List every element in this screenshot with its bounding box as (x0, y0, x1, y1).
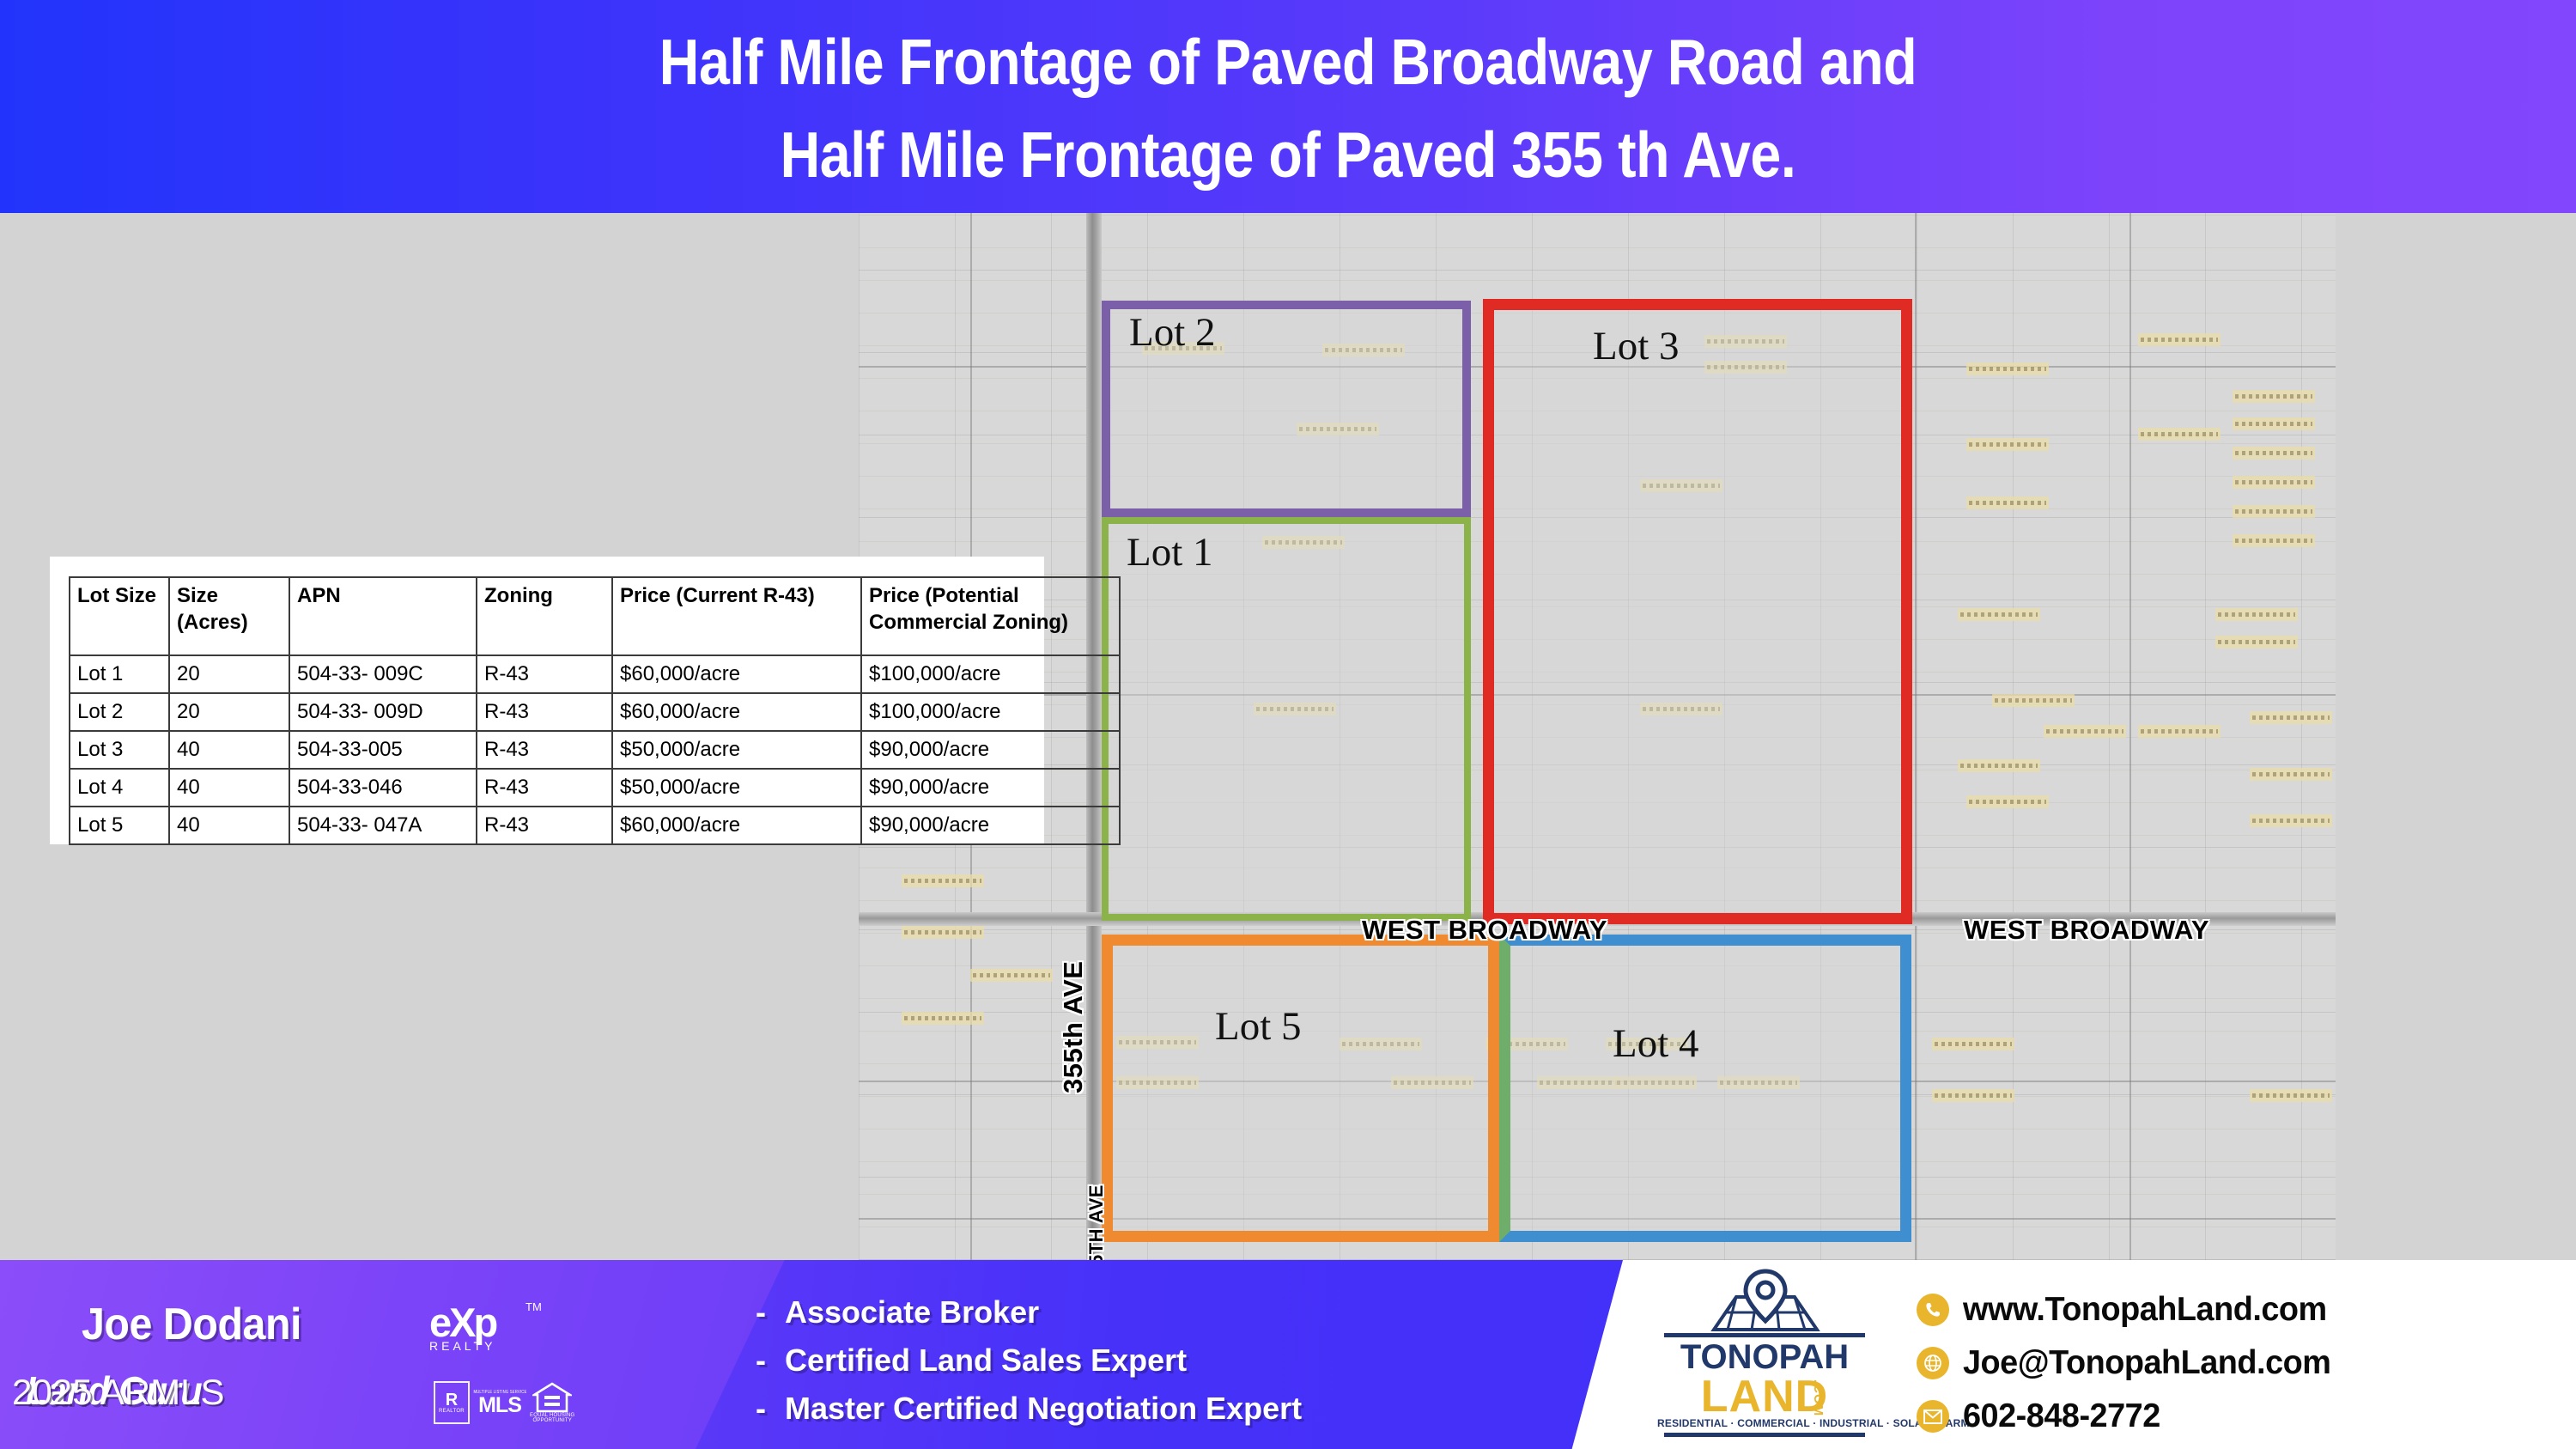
map-apn-tag (2250, 814, 2332, 827)
column-header-price-current: Price (Current R-43) (612, 577, 861, 655)
table-row: Lot 4 40 504-33-046 R-43 $50,000/acre $9… (70, 769, 1120, 807)
street-label-355th-ave: 355th AVE (1058, 961, 1089, 1093)
column-header-apn: APN (289, 577, 477, 655)
cell-apn: 504-33- 009C (289, 655, 477, 693)
mls-wordmark: MLS (478, 1395, 521, 1416)
cell-zoning: R-43 (477, 655, 612, 693)
lot-3-boundary[interactable] (1483, 299, 1912, 924)
cell-lot: Lot 1 (70, 655, 169, 693)
lot-1-label: Lot 1 (1127, 529, 1213, 575)
realtor-label: REALTOR (439, 1409, 465, 1414)
mls-watermark: 2025 ARMLS (12, 1372, 225, 1413)
contact-row-website[interactable]: www.TonopahLand.com (1917, 1283, 2342, 1336)
cell-acres: 40 (169, 731, 289, 769)
cell-acres: 40 (169, 807, 289, 844)
phone-icon (1917, 1294, 1949, 1326)
column-header-zoning: Zoning (477, 577, 612, 655)
envelope-icon (1917, 1400, 1949, 1433)
map-parcel-line (2129, 213, 2131, 1260)
cell-acres: 20 (169, 693, 289, 731)
map-apn-tag (2138, 428, 2221, 441)
lot-2-label: Lot 2 (1129, 309, 1216, 356)
realtor-badge: R REALTOR (434, 1381, 470, 1424)
cell-price-current: $60,000/acre (612, 807, 861, 844)
table-row: Lot 5 40 504-33- 047A R-43 $60,000/acre … (70, 807, 1120, 844)
map-apn-tag (2215, 636, 2298, 648)
exp-wordmark: eXp (429, 1302, 541, 1342)
map-apn-tag (1966, 496, 2049, 509)
cell-lot: Lot 5 (70, 807, 169, 844)
cell-apn: 504-33-046 (289, 769, 477, 807)
cell-zoning: R-43 (477, 731, 612, 769)
street-label-5th-ave: 5TH AVE (1085, 1184, 1108, 1260)
mls-badge: MULTIPLE LISTING SERVICE MLS (473, 1386, 526, 1419)
map-apn-tag (2044, 725, 2126, 738)
map-apn-tag (2233, 447, 2315, 460)
mls-top-label: MULTIPLE LISTING SERVICE (473, 1390, 526, 1395)
cell-apn: 504-33- 047A (289, 807, 477, 844)
marketing-flyer: Half Mile Frontage of Paved Broadway Roa… (0, 0, 2576, 1449)
exp-realty-logo: eXp REALTY TM (429, 1302, 541, 1367)
phone-text: 602-848-2772 (1963, 1397, 2160, 1435)
cell-price-potential: $90,000/acre (861, 769, 1120, 807)
street-label-west-broadway-right: WEST BROADWAY (1964, 915, 2209, 946)
cell-price-potential: $100,000/acre (861, 693, 1120, 731)
cell-price-potential: $90,000/acre (861, 731, 1120, 769)
logo-word-land: LAND (1657, 1371, 1872, 1422)
cell-apn: 504-33-005 (289, 731, 477, 769)
bullet-dash-icon: - (756, 1385, 785, 1433)
map-apn-tag (2233, 505, 2315, 518)
contact-row-phone[interactable]: 602-848-2772 (1917, 1390, 2342, 1443)
map-apn-tag (2250, 1089, 2332, 1102)
affiliation-badges: R REALTOR MULTIPLE LISTING SERVICE MLS E… (434, 1381, 574, 1424)
credential-item: -Associate Broker (756, 1288, 1302, 1336)
contact-row-email[interactable]: Joe@TonopahLand.com (1917, 1336, 2342, 1390)
column-header-lot-size: Lot Size (70, 577, 169, 655)
eho-line2: OPPORTUNITY (532, 1418, 571, 1423)
cell-acres: 20 (169, 655, 289, 693)
cell-price-current: $60,000/acre (612, 655, 861, 693)
email-text: Joe@TonopahLand.com (1963, 1344, 2330, 1382)
map-apn-tag (2233, 476, 2315, 489)
tonopah-land-logo: TONOPAH LAND .COM RESIDENTIAL · COMMERCI… (1657, 1269, 1872, 1441)
map-apn-tag (1966, 362, 2049, 375)
map-apn-tag (1958, 759, 2040, 772)
land-pin-icon (1697, 1268, 1834, 1338)
map-apn-tag (1966, 795, 2049, 808)
map-apn-tag (1932, 1089, 2014, 1102)
cell-lot: Lot 4 (70, 769, 169, 807)
column-header-size-acres: Size (Acres) (169, 577, 289, 655)
map-apn-tag (902, 926, 984, 939)
map-right-margin (2336, 213, 2576, 1260)
contact-list: www.TonopahLand.com Joe@TonopahLand.com … (1917, 1283, 2342, 1443)
lot-details-table: Lot Size Size (Acres) APN Zoning Price (… (69, 576, 1121, 845)
exp-realty-subtext: REALTY (429, 1339, 541, 1353)
bullet-dash-icon: - (756, 1288, 785, 1336)
table-row: Lot 2 20 504-33- 009D R-43 $60,000/acre … (70, 693, 1120, 731)
credential-label: Certified Land Sales Expert (785, 1342, 1187, 1378)
cell-lot: Lot 3 (70, 731, 169, 769)
map-apn-tag (2233, 390, 2315, 403)
realtor-r-icon: R (446, 1391, 458, 1409)
cell-price-current: $50,000/acre (612, 731, 861, 769)
website-text: www.TonopahLand.com (1963, 1291, 2327, 1329)
cell-price-current: $50,000/acre (612, 769, 861, 807)
lot-4-label: Lot 4 (1613, 1020, 1699, 1067)
map-apn-tag (902, 874, 984, 887)
map-apn-tag (970, 969, 1053, 982)
credential-label: Master Certified Negotiation Expert (785, 1391, 1302, 1426)
logo-rule-top (1664, 1333, 1865, 1337)
map-apn-tag (2233, 534, 2315, 547)
credential-item: -Master Certified Negotiation Expert (756, 1385, 1302, 1433)
cell-price-current: $60,000/acre (612, 693, 861, 731)
map-parcel-line (1915, 213, 1917, 1260)
credential-item: -Certified Land Sales Expert (756, 1336, 1302, 1385)
logo-tagline: RESIDENTIAL · COMMERCIAL · INDUSTRIAL · … (1657, 1417, 1872, 1429)
map-apn-tag (2138, 333, 2221, 346)
street-label-west-broadway-left: WEST BROADWAY (1362, 915, 1607, 946)
cell-zoning: R-43 (477, 807, 612, 844)
page-title: Half Mile Frontage of Paved Broadway Roa… (180, 15, 2396, 201)
equal-housing-badge: EQUAL HOUSING OPPORTUNITY (530, 1382, 574, 1423)
logo-dot-com: .COM (1811, 1379, 1826, 1416)
cell-acres: 40 (169, 769, 289, 807)
credentials-list: -Associate Broker -Certified Land Sales … (756, 1288, 1302, 1433)
cell-apn: 504-33- 009D (289, 693, 477, 731)
map-apn-tag (1932, 1038, 2014, 1050)
trademark-icon: TM (526, 1300, 542, 1313)
globe-icon (1917, 1347, 1949, 1379)
table-row: Lot 1 20 504-33- 009C R-43 $60,000/acre … (70, 655, 1120, 693)
cell-price-potential: $100,000/acre (861, 655, 1120, 693)
lot-1-boundary[interactable] (1102, 517, 1471, 921)
map-apn-tag (902, 1012, 984, 1025)
map-apn-tag (2250, 711, 2332, 724)
map-apn-tag (1992, 694, 2075, 707)
table-row: Lot 3 40 504-33-005 R-43 $50,000/acre $9… (70, 731, 1120, 769)
lot-details-panel: Lot Size Size (Acres) APN Zoning Price (… (50, 557, 1044, 844)
map-apn-tag (2215, 608, 2298, 621)
lot-3-label: Lot 3 (1593, 323, 1680, 369)
agent-name: Joe Dodani (82, 1299, 301, 1350)
map-apn-tag (1958, 608, 2040, 621)
lot-4-boundary[interactable] (1499, 935, 1911, 1242)
equal-housing-icon (532, 1382, 572, 1413)
map-apn-tag (2233, 417, 2315, 430)
credential-label: Associate Broker (785, 1294, 1039, 1330)
bullet-dash-icon: - (756, 1336, 785, 1385)
map-apn-tag (1966, 438, 2049, 451)
logo-rule-bottom (1664, 1433, 1865, 1437)
cell-price-potential: $90,000/acre (861, 807, 1120, 844)
cell-zoning: R-43 (477, 693, 612, 731)
lot-5-boundary[interactable] (1102, 935, 1499, 1242)
cell-lot: Lot 2 (70, 693, 169, 731)
cell-zoning: R-43 (477, 769, 612, 807)
column-header-price-potential: Price (Potential Commercial Zoning) (861, 577, 1120, 655)
map-apn-tag (2250, 768, 2332, 781)
header-banner: Half Mile Frontage of Paved Broadway Roa… (0, 0, 2576, 213)
map-apn-tag (2138, 725, 2221, 738)
table-header-row: Lot Size Size (Acres) APN Zoning Price (… (70, 577, 1120, 655)
lot-5-label: Lot 5 (1215, 1003, 1302, 1050)
